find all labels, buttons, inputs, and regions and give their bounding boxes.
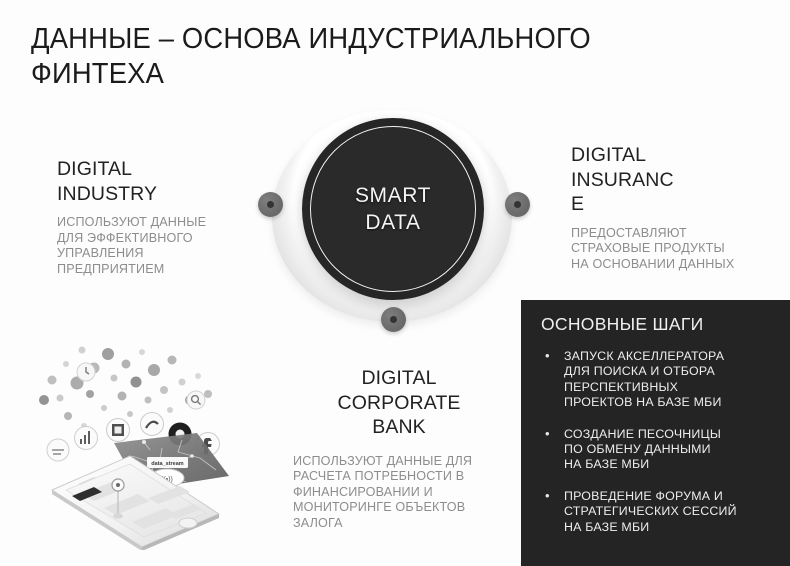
emblem-disc: SMART DATA — [302, 118, 484, 300]
node-dot-left-icon — [258, 192, 283, 217]
list-item: ПРОВЕДЕНИЕ ФОРУМА И СТРАТЕГИЧЕСКИХ СЕССИ… — [540, 489, 780, 535]
node-digital-industry: DIGITAL INDUSTRY ИСПОЛЬЗУЮТ ДАННЫЕ ДЛЯ Э… — [57, 157, 267, 277]
key-steps-list: ЗАПУСК АКСЕЛЛЕРАТОРА ДЛЯ ПОИСКА И ОТБОРА… — [540, 349, 780, 551]
node-dot-right-icon — [505, 192, 530, 217]
emblem-label: SMART DATA — [355, 182, 431, 236]
smart-data-emblem: SMART DATA — [262, 102, 522, 330]
page-title: ДАННЫЕ – ОСНОВА ИНДУСТРИАЛЬНОГО ФИНТЕХА — [31, 22, 645, 92]
node-digital-industry-body: ИСПОЛЬЗУЮТ ДАННЫЕ ДЛЯ ЭФФЕКТИВНОГО УПРАВ… — [57, 215, 267, 277]
key-steps-title: ОСНОВНЫЕ ШАГИ — [541, 314, 704, 335]
list-item: ЗАПУСК АКСЕЛЛЕРАТОРА ДЛЯ ПОИСКА И ОТБОРА… — [540, 349, 780, 411]
node-digital-corporate-bank-heading: DIGITAL CORPORATE BANK — [293, 366, 505, 440]
node-digital-insurance-heading: DIGITAL INSURANC E — [571, 143, 781, 217]
node-digital-insurance-body: ПРЕДОСТАВЛЯЮТ СТРАХОВЫЕ ПРОДУКТЫ НА ОСНО… — [571, 226, 781, 273]
node-digital-industry-heading: DIGITAL INDUSTRY — [57, 157, 267, 206]
list-item: СОЗДАНИЕ ПЕСОЧНИЦЫ ПО ОБМЕНУ ДАННЫМИ НА … — [540, 427, 780, 473]
slide-canvas: ДАННЫЕ – ОСНОВА ИНДУСТРИАЛЬНОГО ФИНТЕХА … — [0, 0, 790, 566]
svg-text:data_stream: data_stream — [151, 461, 184, 467]
key-steps-panel: ОСНОВНЫЕ ШАГИ ЗАПУСК АКСЕЛЛЕРАТОРА ДЛЯ П… — [521, 300, 790, 566]
node-digital-insurance: DIGITAL INSURANC E ПРЕДОСТАВЛЯЮТ СТРАХОВ… — [571, 143, 781, 272]
emblem-disc-inner: SMART DATA — [312, 128, 474, 290]
data-particles — [39, 347, 212, 430]
smartphone-data-illustration: data_stream ((•)) — [22, 338, 237, 550]
illustration-canvas: data_stream ((•)) — [22, 338, 237, 550]
node-digital-corporate-bank: DIGITAL CORPORATE BANK ИСПОЛЬЗУЮТ ДАННЫЕ… — [293, 366, 505, 531]
node-digital-corporate-bank-body: ИСПОЛЬЗУЮТ ДАННЫЕ ДЛЯ РАСЧЕТА ПОТРЕБНОСТ… — [293, 454, 505, 532]
node-dot-bottom-icon — [381, 307, 406, 332]
